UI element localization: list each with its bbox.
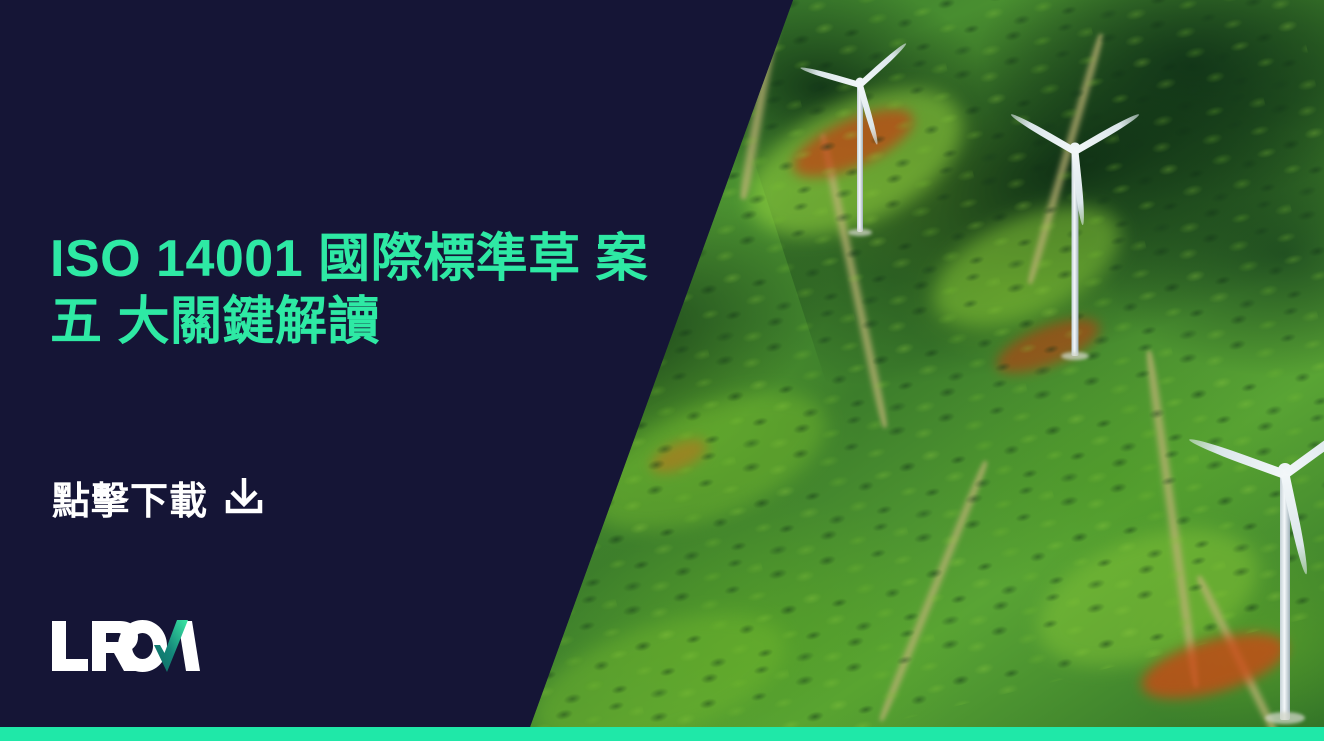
marketing-banner: ISO 14001 國際標準草 案五 大關鍵解讀 點擊下載 — [0, 0, 1324, 741]
page-title-line-1: ISO 14001 國際標準草 — [50, 230, 581, 288]
wind-turbine-icon — [1210, 470, 1324, 720]
wind-turbine-icon — [1020, 148, 1130, 356]
download-cta-button[interactable]: 點擊下載 — [52, 470, 266, 525]
bottom-accent-bar — [0, 727, 1324, 741]
lrqa-logo[interactable] — [50, 615, 200, 675]
download-icon[interactable] — [222, 473, 266, 522]
download-cta-label: 點擊下載 — [52, 470, 208, 525]
page-title: ISO 14001 國際標準草 案五 大關鍵解讀 — [50, 228, 690, 355]
wind-turbine-icon — [815, 82, 905, 232]
